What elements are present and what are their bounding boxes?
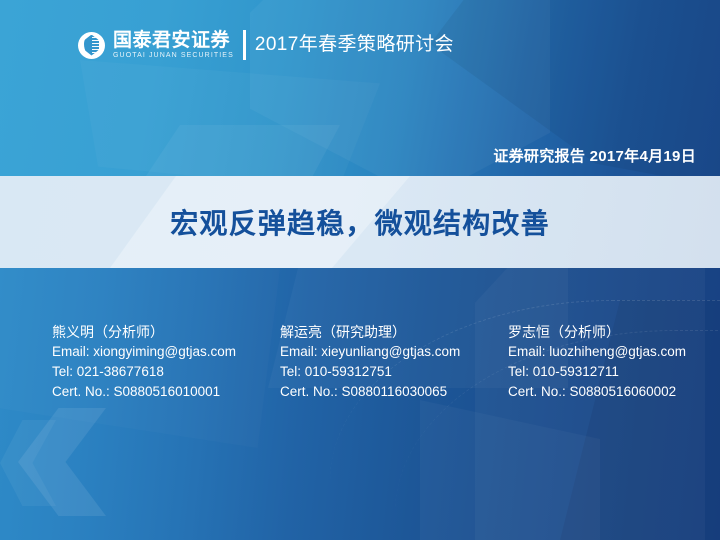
author-block: 熊义明（分析师） Email: xiongyiming@gtjas.com Te…	[52, 322, 280, 402]
author-email: Email: luozhiheng@gtjas.com	[508, 342, 720, 362]
author-name: 熊义明（分析师）	[52, 322, 280, 342]
author-name: 解运亮（研究助理）	[280, 322, 508, 342]
author-cert-no: Cert. No.: S0880516010001	[52, 382, 280, 402]
author-tel: Tel: 010-59312711	[508, 362, 720, 382]
slide-header: 国泰君安证券 GUOTAI JUNAN SECURITIES 2017年春季策略…	[78, 26, 454, 64]
page-title: 宏观反弹趋稳，微观结构改善	[170, 202, 550, 242]
authors-section: 熊义明（分析师） Email: xiongyiming@gtjas.com Te…	[52, 322, 700, 402]
company-name-cn: 国泰君安证券	[113, 31, 234, 51]
presentation-slide: 国泰君安证券 GUOTAI JUNAN SECURITIES 2017年春季策略…	[0, 0, 720, 540]
author-email: Email: xieyunliang@gtjas.com	[280, 342, 508, 362]
author-name: 罗志恒（分析师）	[508, 322, 720, 342]
author-tel: Tel: 010-59312751	[280, 362, 508, 382]
company-logo-text: 国泰君安证券 GUOTAI JUNAN SECURITIES	[113, 31, 234, 60]
report-date-label: 证券研究报告 2017年4月19日	[493, 145, 696, 166]
author-cert-no: Cert. No.: S0880116030065	[280, 382, 508, 402]
gtja-circle-logo-icon	[78, 32, 105, 59]
author-block: 解运亮（研究助理） Email: xieyunliang@gtjas.com T…	[280, 322, 508, 402]
conference-title: 2017年春季策略研讨会	[255, 33, 454, 57]
company-name-en: GUOTAI JUNAN SECURITIES	[113, 51, 234, 60]
author-block: 罗志恒（分析师） Email: luozhiheng@gtjas.com Tel…	[508, 322, 720, 402]
header-divider	[243, 30, 246, 60]
title-band: 宏观反弹趋稳，微观结构改善	[0, 176, 720, 268]
logo-leaf-shape-icon	[84, 35, 99, 56]
author-tel: Tel: 021-38677618	[52, 362, 280, 382]
author-cert-no: Cert. No.: S0880516060002	[508, 382, 720, 402]
author-email: Email: xiongyiming@gtjas.com	[52, 342, 280, 362]
